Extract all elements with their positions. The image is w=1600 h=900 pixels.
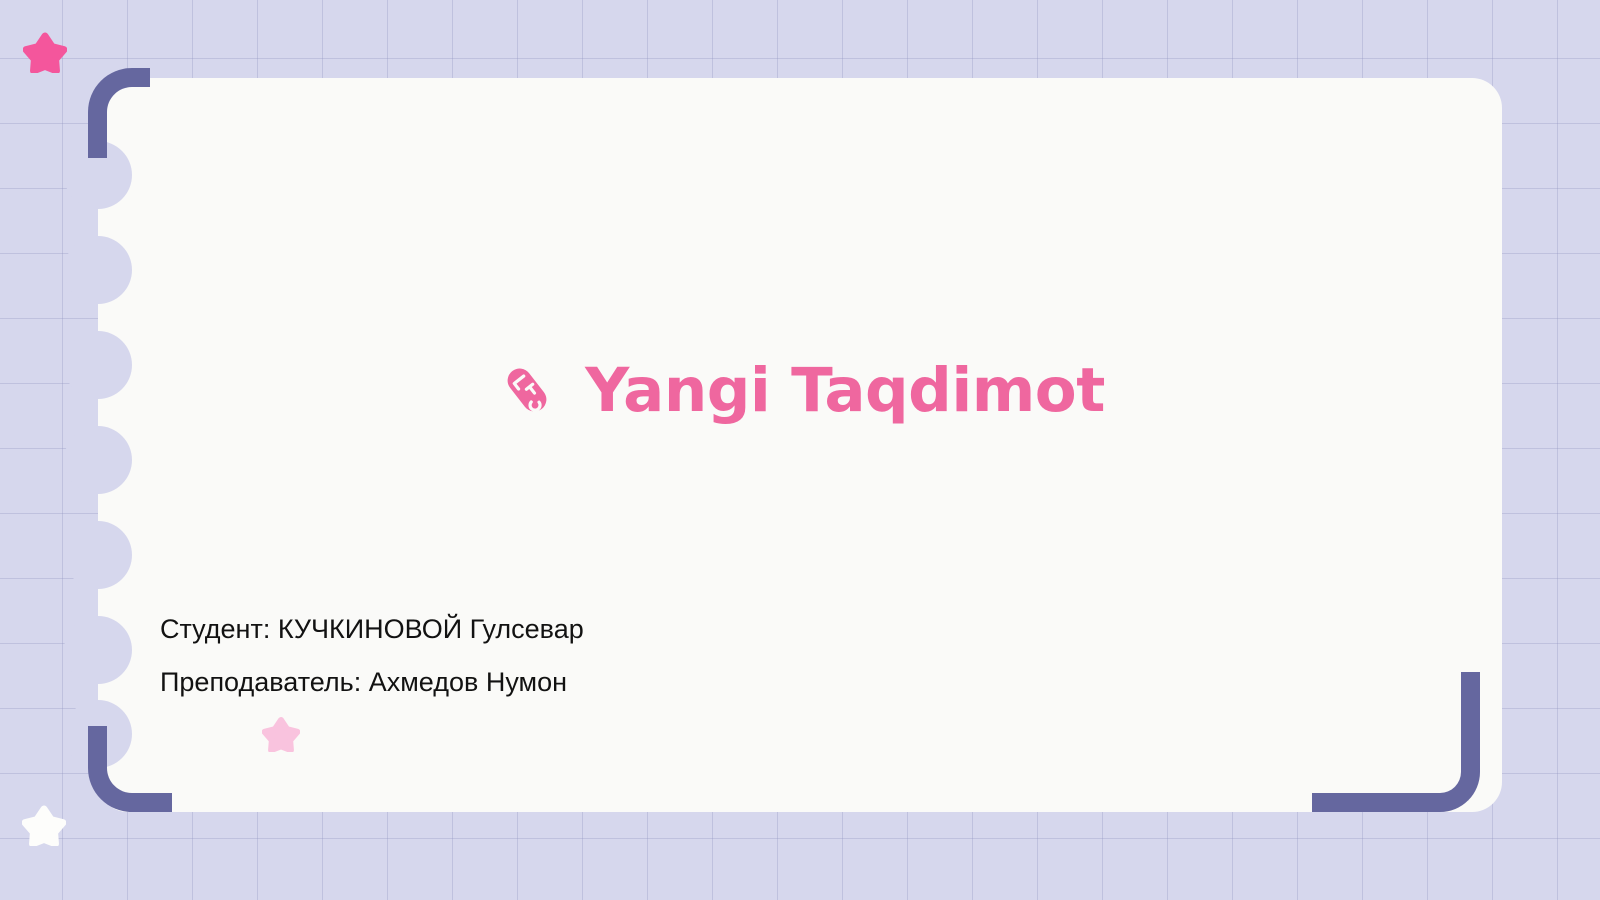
star-bottom-left-icon: [22, 802, 66, 846]
slide-title-row: Yangi Taqdimot: [0, 358, 1600, 422]
credits-block: Студент: КУЧКИНОВОЙ Гулсевар Преподавате…: [160, 603, 1060, 709]
credit-student: Студент: КУЧКИНОВОЙ Гулсевар: [160, 603, 1060, 656]
pink-rolled-scroll-icon: [495, 358, 559, 422]
credit-teacher: Преподаватель: Ахмедов Нумон: [160, 656, 1060, 709]
presentation-slide: Yangi Taqdimot Студент: КУЧКИНОВОЙ Гулсе…: [0, 0, 1600, 900]
page-title: Yangi Taqdimot: [585, 360, 1105, 421]
star-top-left-icon: [23, 29, 67, 73]
